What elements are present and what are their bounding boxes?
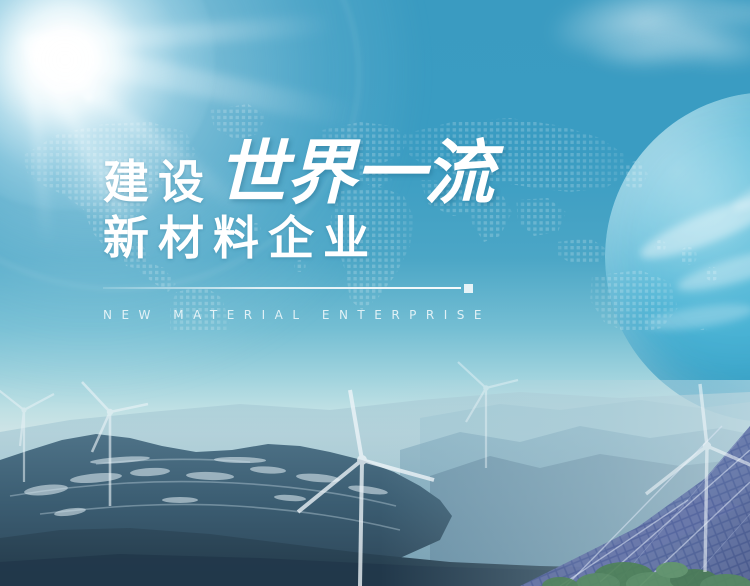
headline-block: 建设 世界一流 新材料企业 NEW MATERIAL ENTERPRISE: [103, 128, 523, 322]
divider-cap: [464, 284, 473, 293]
divider-line: [103, 287, 461, 289]
headline-emphasis: 世界一流: [217, 138, 493, 208]
landscape-scene: [0, 300, 750, 586]
headline-divider: [103, 284, 473, 292]
headline-line-2: 新材料企业: [103, 214, 523, 262]
hero-banner: 建设 世界一流 新材料企业 NEW MATERIAL ENTERPRISE: [0, 0, 750, 586]
headline-line-1: 建设 世界一流: [103, 128, 523, 208]
headline-prefix: 建设: [103, 159, 213, 208]
headline-subtitle: NEW MATERIAL ENTERPRISE: [103, 308, 523, 322]
